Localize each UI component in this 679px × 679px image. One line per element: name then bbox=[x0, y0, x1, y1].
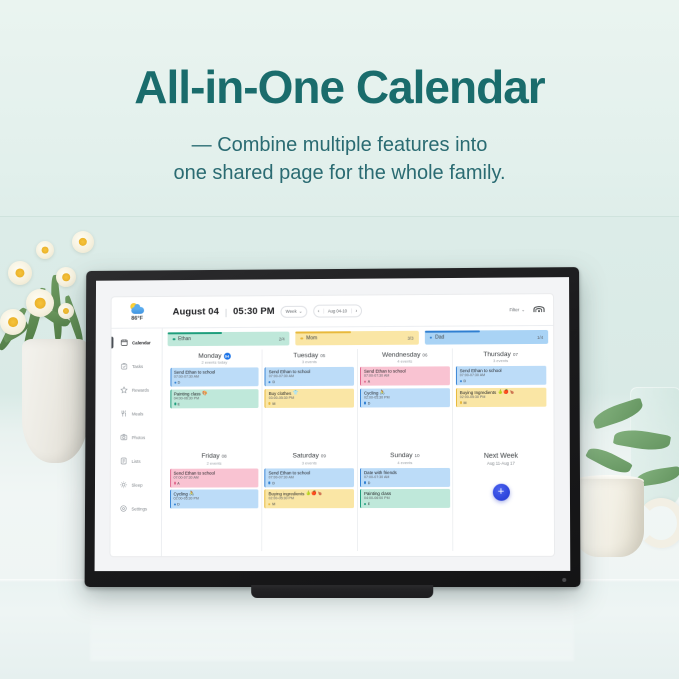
week-range-label: Aug 04-10 bbox=[323, 308, 352, 313]
event-time: 04:00-06:00 PM bbox=[364, 497, 447, 501]
tablet-bezel: 86°F August 04 | 05:30 PM Week ⌄ bbox=[85, 267, 581, 587]
sidebar-item-label: Meals bbox=[132, 411, 144, 416]
day-number: 04 bbox=[224, 352, 231, 359]
week-grid: Monday042 events todaySend Ethan to scho… bbox=[167, 348, 549, 551]
calendar-event[interactable]: Send Ethan to school07:00-07:30 AMD bbox=[456, 366, 546, 385]
day-name-text: Wendnesday bbox=[382, 351, 420, 358]
day-name-text: Thursday bbox=[483, 351, 511, 358]
day-name-text: Saturday bbox=[293, 452, 319, 459]
event-time: 07:00-07:30 AM bbox=[174, 375, 256, 379]
day-number: 10 bbox=[414, 453, 419, 458]
prev-week-button[interactable]: ‹ bbox=[314, 308, 323, 314]
member-chip-accent-bar bbox=[424, 330, 480, 332]
event-time: 04:00-06:30 PM bbox=[174, 397, 256, 401]
event-time: 02:00-05:30 PM bbox=[173, 497, 255, 501]
member-chip-dad[interactable]: Dad1/4 bbox=[424, 330, 548, 345]
event-owner: A bbox=[174, 481, 256, 485]
filter-button[interactable]: Filter ⌄ bbox=[509, 307, 525, 313]
promo-subtitle-line2: one shared page for the whole family. bbox=[173, 160, 505, 188]
calendar-event[interactable]: Send Ethan to school07:00-07:30 AMA bbox=[170, 468, 259, 487]
event-owner: D bbox=[269, 481, 351, 485]
day-column[interactable]: Friday082 eventsSend Ethan to school07:0… bbox=[167, 450, 262, 551]
event-title: Send Ethan to school bbox=[174, 470, 256, 475]
event-title-text: Buying Ingredients bbox=[460, 390, 497, 395]
day-name: Sunday10 bbox=[390, 452, 420, 459]
add-event-button[interactable]: + bbox=[492, 483, 509, 500]
calendar-event[interactable]: Buying ingredients🍐🍎🍗02:00-05:30 PMM bbox=[265, 489, 354, 508]
current-date: August 04 bbox=[173, 306, 219, 317]
calendar-icon bbox=[120, 339, 128, 347]
tablet-screen: 86°F August 04 | 05:30 PM Week ⌄ bbox=[95, 277, 571, 571]
sidebar: Calendar Tasks Rewards bbox=[110, 328, 162, 556]
event-title-text: Buy clothes bbox=[269, 391, 292, 396]
day-name: Thursday07 bbox=[483, 351, 518, 358]
event-time: 07:00-07:30 AM bbox=[269, 375, 351, 379]
flower-bloom bbox=[56, 267, 76, 287]
calendar-event[interactable]: Cycling🚴02:00-05:30 PMD bbox=[360, 388, 450, 407]
event-owner: D bbox=[460, 379, 543, 383]
event-owner: A bbox=[364, 379, 447, 383]
member-filter-chips: Ethan2/4Mom3/3Dad1/4 bbox=[168, 330, 549, 346]
day-name: Wendnesday06 bbox=[382, 351, 427, 358]
event-time: 07:00-07:30 AM bbox=[364, 476, 447, 480]
next-week-range: Aug 11-Aug 17 bbox=[487, 461, 515, 466]
sun-behind-cloud-icon bbox=[129, 303, 145, 315]
day-header: Friday082 events bbox=[170, 450, 259, 467]
member-chip-accent-bar bbox=[296, 331, 351, 333]
event-owner-initial: D bbox=[272, 481, 275, 485]
day-events: Send Ethan to school07:00-07:30 AMDPaint… bbox=[170, 366, 259, 408]
promo-subtitle-line1: — Combine multiple features into bbox=[173, 132, 505, 160]
flower-bloom bbox=[72, 231, 94, 253]
day-header: Thursday073 events bbox=[456, 348, 546, 365]
day-header: Sunday104 events bbox=[360, 449, 450, 466]
day-name-text: Tuesday bbox=[293, 352, 318, 359]
day-name: Saturday09 bbox=[293, 452, 326, 459]
photos-icon bbox=[120, 433, 128, 441]
current-time: 05:30 PM bbox=[233, 306, 275, 317]
event-owner-initial: D bbox=[463, 379, 466, 383]
event-time: 07:00-07:30 AM bbox=[364, 374, 447, 378]
calendar-event[interactable]: Cycling🚴02:00-05:30 PMD bbox=[169, 489, 258, 508]
next-week-panel[interactable]: Next WeekAug 11-Aug 17+ bbox=[453, 449, 549, 551]
day-event-count: 4 events bbox=[360, 459, 450, 464]
member-event-count: 3/3 bbox=[408, 335, 414, 340]
day-name-text: Friday bbox=[201, 453, 219, 460]
rewards-icon bbox=[120, 386, 128, 394]
sleep-icon bbox=[120, 481, 128, 489]
day-column[interactable]: Saturday093 eventsSend Ethan to school07… bbox=[262, 450, 358, 551]
promo-banner: All-in-One Calendar — Combine multiple f… bbox=[0, 0, 679, 217]
event-owner: D bbox=[173, 502, 255, 506]
wifi-icon[interactable] bbox=[534, 306, 543, 313]
event-title: Date with friends bbox=[364, 469, 447, 474]
event-owner-initial: M bbox=[272, 502, 275, 506]
calendar-event[interactable]: Buy clothes👕03:00-05:30 PMM bbox=[265, 388, 354, 407]
day-number: 07 bbox=[513, 352, 518, 357]
member-event-count: 1/4 bbox=[537, 334, 543, 339]
day-name: Tuesday05 bbox=[293, 352, 325, 359]
day-name: Friday08 bbox=[201, 453, 226, 460]
member-color-dot bbox=[173, 338, 176, 341]
sidebar-item-lists[interactable]: Lists bbox=[111, 449, 161, 473]
weather-temperature: 86°F bbox=[131, 316, 143, 322]
camera-indicator-dot bbox=[562, 578, 566, 582]
event-owner: D bbox=[269, 380, 351, 384]
tablet-reflection bbox=[90, 589, 574, 661]
event-title-text: Date with friends bbox=[364, 470, 397, 475]
week-range-nav: ‹ Aug 04-10 › bbox=[313, 304, 361, 317]
day-events: Date with friends07:00-07:30 AMDPainting… bbox=[360, 466, 450, 508]
day-number: 09 bbox=[321, 453, 326, 458]
member-chip-accent-bar bbox=[168, 332, 223, 334]
event-emoji-icon: 🚴 bbox=[380, 390, 385, 394]
calendar-view: Ethan2/4Mom3/3Dad1/4 Monday042 events to… bbox=[162, 326, 554, 556]
sidebar-item-label: Sleep bbox=[131, 482, 142, 487]
day-header: Monday042 events today bbox=[170, 350, 259, 367]
date-time-separator: | bbox=[225, 307, 227, 317]
event-title-text: Send Ethan to school bbox=[174, 470, 215, 475]
calendar-app: 86°F August 04 | 05:30 PM Week ⌄ bbox=[95, 277, 571, 571]
date-controls: August 04 | 05:30 PM Week ⌄ ‹ bbox=[163, 303, 510, 318]
calendar-event[interactable]: Send Ethan to school07:00-07:30 AMA bbox=[360, 366, 450, 385]
member-color-dot bbox=[430, 336, 433, 339]
member-name: Mom bbox=[306, 335, 407, 342]
promo-subtitle: — Combine multiple features into one sha… bbox=[173, 132, 505, 187]
day-event-count: 3 events bbox=[265, 460, 354, 465]
event-time: 07:00-07:30 AM bbox=[460, 374, 543, 378]
sidebar-item-meals[interactable]: Meals bbox=[111, 402, 161, 426]
day-column[interactable]: Sunday104 eventsDate with friends07:00-0… bbox=[358, 449, 454, 551]
day-header: Tuesday053 events bbox=[265, 349, 354, 366]
lists-icon bbox=[120, 457, 128, 465]
app-toolbar: 86°F August 04 | 05:30 PM Week ⌄ bbox=[112, 294, 554, 329]
screenshot-root: All-in-One Calendar — Combine multiple f… bbox=[0, 0, 679, 679]
next-week-title: Next Week bbox=[484, 452, 518, 459]
day-column[interactable]: Monday042 events todaySend Ethan to scho… bbox=[167, 350, 262, 451]
chevron-down-icon: ⌄ bbox=[521, 307, 525, 313]
sidebar-item-label: Calendar bbox=[132, 340, 151, 345]
event-owner: D bbox=[174, 380, 256, 384]
member-name: Dad bbox=[435, 334, 537, 341]
leaf bbox=[585, 443, 633, 478]
week-row-2: Friday082 eventsSend Ethan to school07:0… bbox=[167, 449, 549, 551]
sidebar-item-photos[interactable]: Photos bbox=[111, 425, 161, 449]
day-events: Send Ethan to school07:00-07:30 AMACycli… bbox=[360, 365, 450, 407]
day-events: Send Ethan to school07:00-07:30 AMACycli… bbox=[169, 467, 258, 508]
calendar-event[interactable]: Send Ethan to school07:00-07:30 AMD bbox=[265, 367, 354, 386]
event-time: 07:00-07:30 AM bbox=[269, 476, 351, 480]
flower-bloom bbox=[26, 289, 54, 317]
sidebar-item-label: Rewards bbox=[132, 387, 149, 392]
event-owner-initial: D bbox=[368, 401, 371, 405]
event-owner-initial: D bbox=[177, 503, 180, 507]
event-owner-initial: E bbox=[368, 502, 370, 506]
event-owner: M bbox=[269, 401, 351, 405]
event-time: 02:00-05:30 PM bbox=[460, 395, 543, 399]
day-event-count: 2 events today bbox=[170, 359, 259, 364]
sidebar-item-label: Tasks bbox=[132, 364, 143, 369]
app-window: 86°F August 04 | 05:30 PM Week ⌄ bbox=[110, 294, 554, 556]
event-time: 02:00-05:30 PM bbox=[269, 497, 351, 501]
sidebar-item-calendar[interactable]: Calendar bbox=[111, 330, 161, 354]
chevron-down-icon: ⌄ bbox=[299, 308, 303, 314]
flower-bloom bbox=[58, 303, 74, 319]
event-emoji-icon: 🍐🍎🍗 bbox=[498, 390, 514, 394]
event-title-text: Painting class bbox=[174, 391, 201, 396]
day-events: Send Ethan to school07:00-07:30 AMDBuyin… bbox=[265, 467, 354, 509]
day-event-count: 2 events bbox=[170, 460, 259, 465]
day-header: Saturday093 events bbox=[265, 450, 354, 467]
member-name: Ethan bbox=[178, 336, 279, 343]
day-number: 05 bbox=[320, 353, 325, 358]
member-chip-mom[interactable]: Mom3/3 bbox=[296, 331, 419, 346]
sidebar-item-label: Settings bbox=[131, 506, 147, 511]
product-photo-scene: 86°F August 04 | 05:30 PM Week ⌄ bbox=[0, 217, 679, 679]
event-emoji-icon: 🎨 bbox=[202, 391, 207, 395]
day-event-count: 4 events bbox=[360, 358, 450, 363]
calendar-event[interactable]: Painting class04:00-06:00 PME bbox=[360, 489, 450, 508]
week-row-1: Monday042 events todaySend Ethan to scho… bbox=[167, 348, 548, 451]
event-time: 03:00-05:30 PM bbox=[269, 396, 351, 400]
page-title: All-in-One Calendar bbox=[134, 64, 544, 110]
event-title-text: Send Ethan to school bbox=[269, 470, 311, 475]
day-column[interactable]: Thursday073 eventsSend Ethan to school07… bbox=[453, 348, 548, 450]
event-owner-initial: D bbox=[178, 381, 181, 385]
event-title: Painting class🎨 bbox=[174, 391, 256, 396]
day-events: Send Ethan to school07:00-07:30 AMDBuyin… bbox=[456, 365, 546, 407]
vase bbox=[22, 339, 88, 463]
settings-icon bbox=[120, 505, 128, 513]
sidebar-item-label: Photos bbox=[132, 435, 146, 440]
day-event-count: 3 events bbox=[456, 358, 546, 363]
tasks-icon bbox=[120, 362, 128, 370]
day-name: Monday04 bbox=[198, 352, 230, 359]
event-owner-initial: A bbox=[368, 380, 370, 384]
app-body: Calendar Tasks Rewards bbox=[110, 326, 554, 556]
sidebar-item-settings[interactable]: Settings bbox=[111, 497, 162, 521]
day-name-text: Monday bbox=[198, 352, 221, 359]
next-week-button[interactable]: › bbox=[352, 308, 361, 314]
event-owner: E bbox=[174, 402, 256, 406]
event-title: Send Ethan to school bbox=[269, 470, 351, 475]
filter-label: Filter bbox=[509, 307, 519, 312]
calendar-event[interactable]: Date with friends07:00-07:30 AMD bbox=[360, 467, 450, 486]
flower-bloom bbox=[8, 261, 32, 285]
next-week-content: Next WeekAug 11-Aug 17+ bbox=[456, 449, 547, 551]
event-title: Buy clothes👕 bbox=[269, 390, 351, 395]
sidebar-item-tasks[interactable]: Tasks bbox=[111, 354, 161, 378]
view-select-label: Week bbox=[286, 309, 297, 314]
member-color-dot bbox=[301, 337, 304, 340]
event-owner-initial: D bbox=[368, 481, 371, 485]
day-number: 08 bbox=[222, 454, 227, 459]
event-title: Buying Ingredients🍐🍎🍗 bbox=[460, 389, 543, 394]
day-event-count: 3 events bbox=[265, 359, 354, 364]
event-time: 02:00-05:30 PM bbox=[364, 396, 447, 400]
event-emoji-icon: 👕 bbox=[293, 391, 298, 395]
member-chip-ethan[interactable]: Ethan2/4 bbox=[168, 332, 290, 347]
calendar-event[interactable]: Send Ethan to school07:00-07:30 AMD bbox=[170, 367, 259, 386]
event-title: Cycling🚴 bbox=[364, 390, 447, 395]
tablet-device: 86°F August 04 | 05:30 PM Week ⌄ bbox=[85, 267, 581, 587]
toolbar-right: Filter ⌄ bbox=[509, 306, 553, 313]
sidebar-item-label: Lists bbox=[132, 458, 141, 463]
day-column[interactable]: Wendnesday064 eventsSend Ethan to school… bbox=[357, 348, 453, 449]
event-owner-initial: M bbox=[272, 402, 275, 406]
event-owner-initial: E bbox=[177, 402, 179, 406]
event-title-text: Cycling bbox=[364, 390, 378, 395]
sidebar-item-rewards[interactable]: Rewards bbox=[111, 378, 161, 402]
member-event-count: 2/4 bbox=[279, 336, 285, 341]
sidebar-item-sleep[interactable]: Sleep bbox=[111, 473, 161, 497]
day-column[interactable]: Tuesday053 eventsSend Ethan to school07:… bbox=[262, 349, 357, 450]
view-select[interactable]: Week ⌄ bbox=[281, 305, 308, 317]
event-owner: M bbox=[269, 502, 352, 506]
event-owner-initial: D bbox=[272, 380, 275, 384]
flower-bloom bbox=[36, 241, 54, 259]
event-time: 07:00-07:30 AM bbox=[174, 476, 256, 480]
day-header: Wendnesday064 events bbox=[360, 348, 450, 365]
event-emoji-icon: 🍐🍎🍗 bbox=[306, 492, 322, 496]
day-number: 06 bbox=[422, 352, 427, 357]
event-owner: D bbox=[364, 480, 447, 484]
event-owner-initial: A bbox=[177, 481, 179, 485]
event-owner: D bbox=[364, 401, 447, 405]
flower-bloom bbox=[0, 309, 26, 335]
weather-widget[interactable]: 86°F bbox=[112, 297, 163, 328]
calendar-event[interactable]: Send Ethan to school07:00-07:30 AMD bbox=[265, 468, 354, 487]
calendar-event[interactable]: Buying Ingredients🍐🍎🍗02:00-05:30 PMM bbox=[456, 387, 546, 406]
calendar-event[interactable]: Painting class🎨04:00-06:30 PME bbox=[170, 389, 259, 408]
meals-icon bbox=[120, 410, 128, 418]
event-owner: E bbox=[364, 502, 447, 506]
event-owner-initial: M bbox=[463, 401, 466, 405]
event-owner: M bbox=[460, 400, 543, 404]
coffee-mug bbox=[574, 479, 644, 557]
day-events: Send Ethan to school07:00-07:30 AMDBuy c… bbox=[265, 366, 354, 408]
day-name-text: Sunday bbox=[390, 452, 412, 459]
